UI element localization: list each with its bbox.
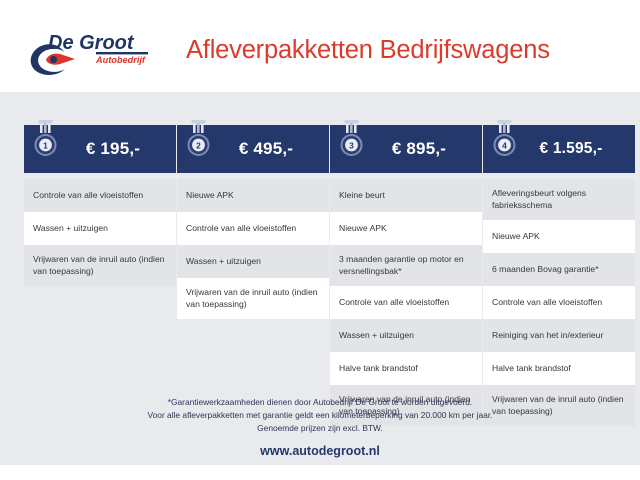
website-link[interactable]: www.autodegroot.nl: [0, 444, 640, 458]
company-logo[interactable]: De Groot Autobedrijf: [22, 28, 170, 80]
medal-icon: 3: [337, 120, 367, 162]
feature-item: Wassen + uitzuigen: [330, 319, 482, 352]
medal-icon: 4: [490, 120, 520, 162]
badge-number: 1: [43, 140, 48, 150]
feature-item: Vrijwaren van de inruil auto (indien van…: [24, 245, 176, 286]
feature-item: Nieuwe APK: [330, 212, 482, 245]
feature-item: 3 maanden garantie op motor en versnelli…: [330, 245, 482, 286]
badge-number: 4: [502, 140, 507, 150]
package-card-3[interactable]: 3 € 895,- Kleine beurt Nieuwe APK 3 maan…: [330, 125, 482, 426]
package-price-2: € 495,-: [213, 139, 293, 159]
package-header-2: 2 € 495,-: [177, 125, 329, 173]
feature-item: Halve tank brandstof: [483, 352, 635, 385]
badge-number: 2: [196, 140, 201, 150]
feature-list-4: Afleveringsbeurt volgens fabrieksschema …: [483, 179, 635, 426]
feature-item: Halve tank brandstof: [330, 352, 482, 385]
bottom-white-strip: [0, 465, 640, 480]
feature-item: Controle van alle vloeistoffen: [177, 212, 329, 245]
feature-list-2: Nieuwe APK Controle van alle vloeistoffe…: [177, 179, 329, 319]
fine-print: *Garantiewerkzaamheden dienen door Autob…: [0, 396, 640, 436]
feature-item: Kleine beurt: [330, 179, 482, 212]
feature-item: Wassen + uitzuigen: [24, 212, 176, 245]
feature-list-3: Kleine beurt Nieuwe APK 3 maanden garant…: [330, 179, 482, 426]
page-title: Afleverpakketten Bedrijfswagens: [186, 36, 550, 65]
badge-number: 3: [349, 140, 354, 150]
fine-print-line-1: *Garantiewerkzaamheden dienen door Autob…: [0, 396, 640, 409]
feature-item: Wassen + uitzuigen: [177, 245, 329, 278]
medal-icon: 1: [31, 120, 61, 162]
feature-item: Afleveringsbeurt volgens fabrieksschema: [483, 179, 635, 220]
feature-item: Controle van alle vloeistoffen: [24, 179, 176, 212]
package-price-4: € 1.595,-: [516, 140, 603, 158]
feature-list-1: Controle van alle vloeistoffen Wassen + …: [24, 179, 176, 286]
package-header-1: 1 € 195,-: [24, 125, 176, 173]
feature-item: Nieuwe APK: [177, 179, 329, 212]
feature-item: Reiniging van het in/exterieur: [483, 319, 635, 352]
fine-print-line-2: Voor alle afleverpakketten met garantie …: [0, 409, 640, 422]
de-groot-logo-icon: De Groot Autobedrijf: [22, 28, 170, 80]
feature-item: Nieuwe APK: [483, 220, 635, 253]
feature-item: Controle van alle vloeistoffen: [483, 286, 635, 319]
page-header: De Groot Autobedrijf Afleverpakketten Be…: [0, 0, 640, 92]
package-card-2[interactable]: 2 € 495,- Nieuwe APK Controle van alle v…: [177, 125, 329, 319]
package-card-4[interactable]: 4 € 1.595,- Afleveringsbeurt volgens fab…: [483, 125, 635, 426]
feature-item: Vrijwaren van de inruil auto (indien van…: [177, 278, 329, 319]
flyer-page: De Groot Autobedrijf Afleverpakketten Be…: [0, 0, 640, 480]
package-header-3: 3 € 895,-: [330, 125, 482, 173]
fine-print-line-3: Genoemde prijzen zijn excl. BTW.: [0, 422, 640, 435]
feature-item: 6 maanden Bovag garantie*: [483, 253, 635, 286]
package-price-1: € 195,-: [60, 139, 140, 159]
svg-text:De Groot: De Groot: [48, 32, 135, 54]
package-header-4: 4 € 1.595,-: [483, 125, 635, 173]
medal-icon: 2: [184, 120, 214, 162]
package-price-3: € 895,-: [366, 139, 446, 159]
svg-text:Autobedrijf: Autobedrijf: [95, 55, 146, 65]
feature-item: Controle van alle vloeistoffen: [330, 286, 482, 319]
package-card-1[interactable]: 1 € 195,- Controle van alle vloeistoffen…: [24, 125, 176, 286]
